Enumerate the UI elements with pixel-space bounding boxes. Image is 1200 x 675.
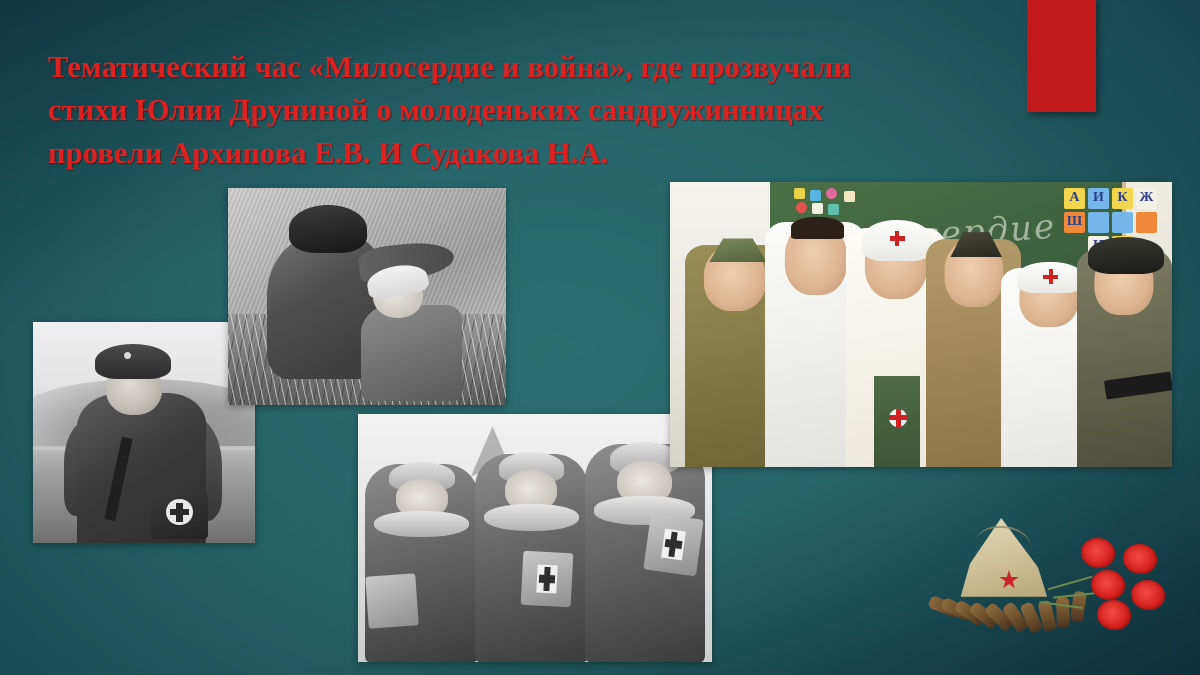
red-cross-icon bbox=[537, 564, 558, 593]
letter-card: А bbox=[1064, 188, 1085, 209]
winter-medic-2 bbox=[475, 454, 588, 662]
carnation-icon bbox=[1097, 600, 1131, 630]
hair bbox=[791, 217, 843, 239]
carnation-icon bbox=[1123, 544, 1157, 574]
tank-helmet-icon bbox=[1088, 237, 1164, 274]
red-cross-icon bbox=[166, 499, 193, 526]
letter-card: Ш bbox=[1064, 212, 1085, 233]
cartridge-icon bbox=[1056, 597, 1070, 627]
nurse-kerchief-icon bbox=[862, 220, 932, 261]
winter-medic-3 bbox=[585, 444, 705, 662]
decor-cap-flowers bbox=[935, 508, 1185, 653]
paper-shape bbox=[796, 202, 807, 213]
shape-card bbox=[1112, 212, 1133, 233]
medical-bag bbox=[643, 512, 703, 576]
letter-card: Ж bbox=[1136, 188, 1157, 209]
paper-shape bbox=[812, 203, 823, 214]
page-title: Тематический час «Милосердие и война», г… bbox=[48, 46, 998, 175]
accent-bar bbox=[1027, 0, 1096, 112]
letter-card: К bbox=[1112, 188, 1133, 209]
red-cross-icon bbox=[889, 409, 907, 427]
paper-shape bbox=[828, 204, 839, 215]
nurse-kerchief-icon bbox=[1017, 262, 1084, 294]
photo-medic-girl-content bbox=[33, 322, 255, 543]
paper-shape bbox=[844, 191, 855, 202]
photo-aid-wounded-content bbox=[228, 188, 506, 405]
photo-medic-girl bbox=[33, 322, 255, 543]
red-cross-icon bbox=[661, 528, 686, 560]
photo-classroom-content: Милосердие А И К Ж Ш Н bbox=[670, 182, 1172, 467]
photo-winter-medics-content bbox=[358, 414, 712, 662]
photo-aid-wounded bbox=[228, 188, 506, 405]
paper-shape bbox=[826, 188, 837, 199]
shape-card bbox=[1088, 212, 1109, 233]
cap-seam bbox=[973, 523, 1033, 567]
medical-bag bbox=[521, 550, 574, 607]
fur-collar bbox=[374, 511, 469, 537]
paper-shape bbox=[794, 188, 805, 199]
photo-classroom: Милосердие А И К Ж Ш Н bbox=[670, 182, 1172, 467]
helmet-icon bbox=[289, 205, 367, 253]
title-line-2: стихи Юлии Друниной о молоденьких сандру… bbox=[48, 89, 998, 132]
letter-card: И bbox=[1088, 188, 1109, 209]
apron bbox=[874, 376, 920, 467]
carnation-icon bbox=[1131, 580, 1165, 610]
paper-shape bbox=[810, 190, 821, 201]
photo-winter-medics bbox=[358, 414, 712, 662]
medical-bag bbox=[366, 573, 419, 628]
title-line-1: Тематический час «Милосердие и война», г… bbox=[48, 46, 998, 89]
carnation-icon bbox=[1091, 570, 1125, 600]
fur-collar bbox=[484, 504, 579, 531]
winter-medic-1 bbox=[365, 464, 478, 662]
carnation-icon bbox=[1081, 538, 1115, 568]
red-cross-icon bbox=[890, 231, 905, 246]
shape-card bbox=[1064, 236, 1085, 257]
shape-card bbox=[1136, 212, 1157, 233]
title-line-3: провели Архипова Е.В. И Судакова Н.А. bbox=[48, 132, 998, 175]
fur-hat-icon bbox=[95, 344, 170, 379]
participant-soldier-3 bbox=[1077, 250, 1172, 467]
rifle-prop-icon bbox=[1104, 371, 1172, 400]
red-cross-icon bbox=[1043, 269, 1058, 284]
presentation-slide: Тематический час «Милосердие и война», г… bbox=[0, 0, 1200, 675]
wounded-soldier-figure bbox=[361, 305, 461, 400]
